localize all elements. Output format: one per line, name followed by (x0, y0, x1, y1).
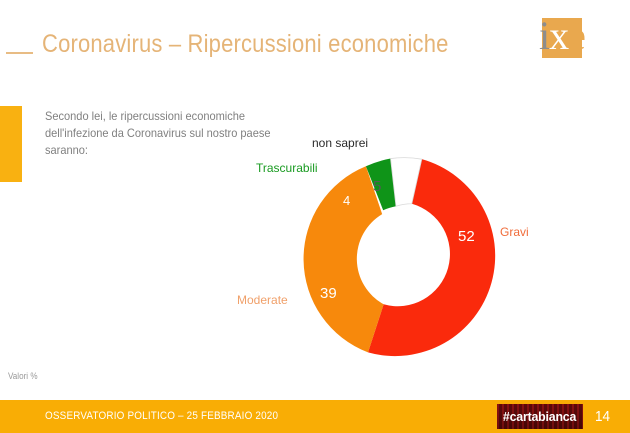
ixe-logo: ixè (536, 14, 588, 60)
logo-letter-e-grave: è (568, 13, 585, 58)
slice-label-non-saprei: non saprei (312, 136, 368, 150)
slice-label-gravi: Gravi (500, 225, 529, 239)
slice-value-non-saprei: 5 (373, 178, 381, 195)
page-number: 14 (595, 408, 610, 425)
title-dash-decoration (6, 52, 33, 54)
slice-label-moderate: Moderate (237, 293, 288, 307)
donut-chart-svg (301, 157, 501, 357)
question-accent-block (0, 106, 22, 182)
slice-value-gravi: 52 (458, 228, 475, 245)
cartabianca-badge: #cartabianca (497, 404, 583, 429)
footer-caption: OSSERVATORIO POLITICO – 25 FEBBRAIO 2020 (45, 410, 278, 422)
logo-wordmark: ixè (536, 12, 588, 60)
page-title: Coronavirus – Ripercussioni economiche (42, 30, 449, 59)
slice-label-trascurabili: Trascurabili (256, 161, 318, 175)
chart-footnote: Valori % (8, 371, 38, 381)
logo-letter-i: i (539, 13, 549, 58)
footer-bar: OSSERVATORIO POLITICO – 25 FEBBRAIO 2020… (0, 400, 630, 433)
slice-value-moderate: 39 (320, 285, 337, 302)
logo-letter-x: x (549, 13, 568, 58)
slice-value-trascurabili: 4 (343, 193, 350, 208)
donut-chart: non saprei Trascurabili Gravi Moderate 5… (230, 130, 600, 370)
slide-root: Coronavirus – Ripercussioni economiche i… (0, 0, 630, 433)
cartabianca-badge-label: #cartabianca (503, 409, 576, 424)
